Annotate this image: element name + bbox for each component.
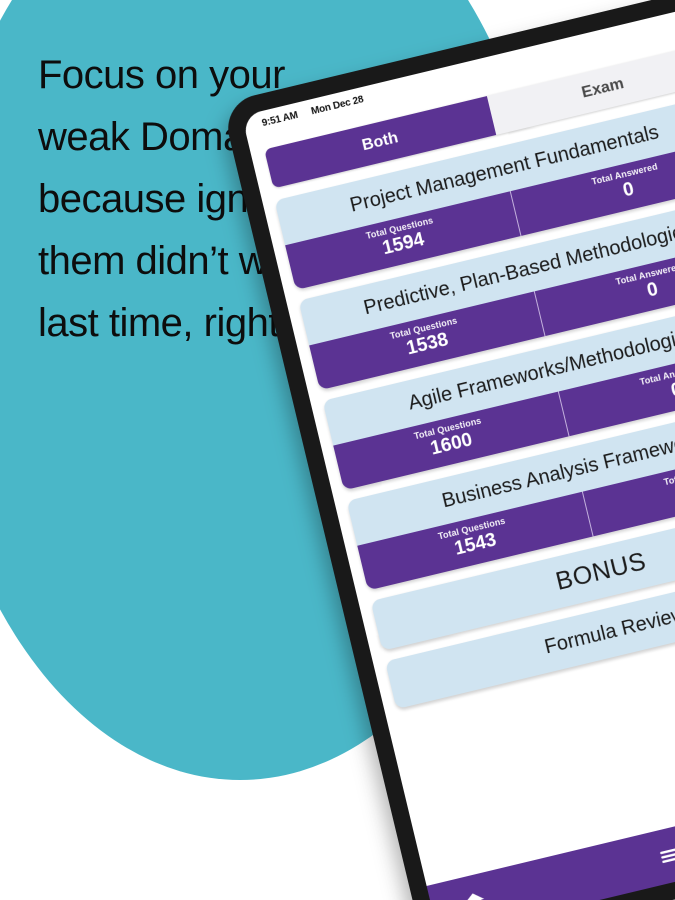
- status-bar-time: 9:51 AM: [261, 109, 299, 128]
- status-bar-date: Mon Dec 28: [310, 94, 365, 117]
- promo-screenshot: Focus on your weak Domains... because ig…: [0, 0, 675, 900]
- home-icon[interactable]: [454, 882, 495, 900]
- menu-icon[interactable]: [649, 835, 675, 876]
